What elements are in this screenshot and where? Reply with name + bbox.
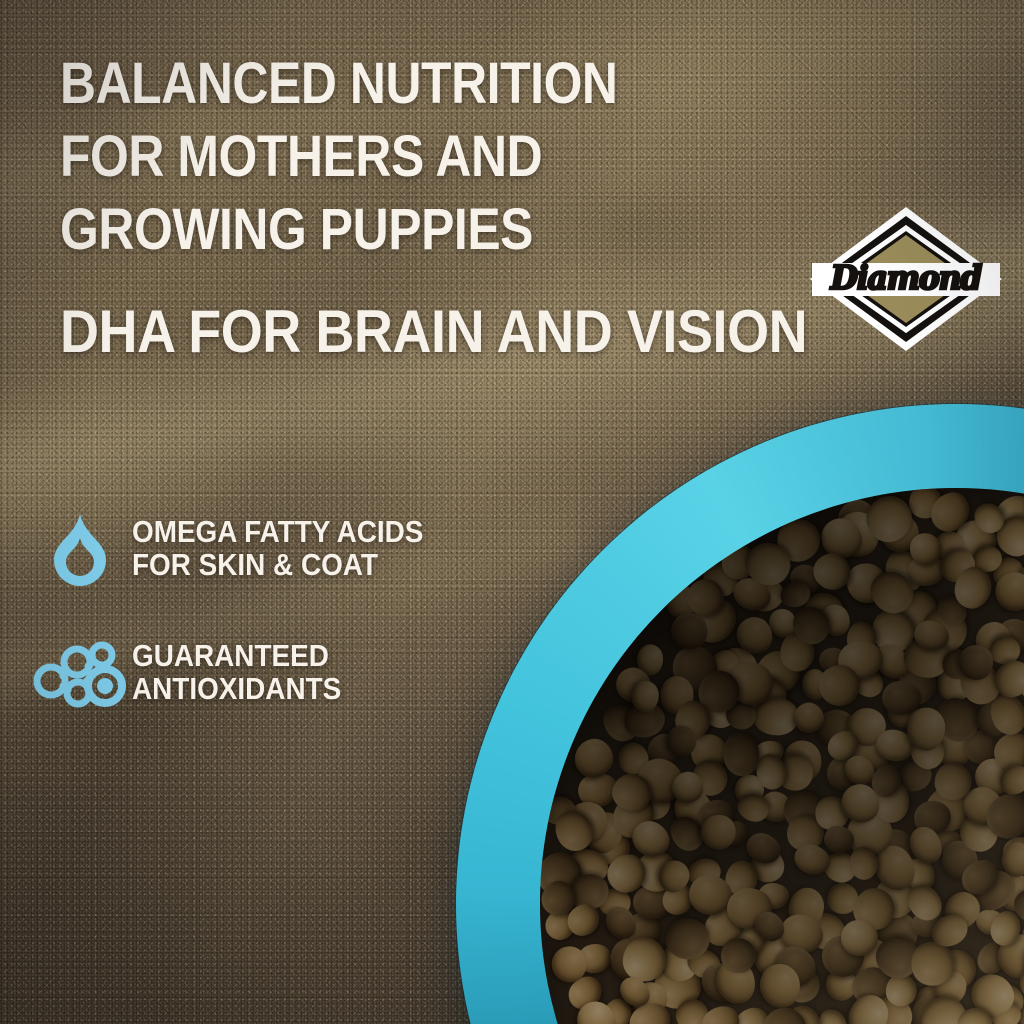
diamond-brand-logo: Diamond bbox=[806, 203, 1006, 355]
benefit-omega-line-2: FOR SKIN & COAT bbox=[132, 549, 425, 582]
headline-line-1: BALANCED NUTRITION bbox=[60, 56, 714, 113]
oil-droplet-icon bbox=[28, 512, 132, 592]
logo-wordmark-text: Diamond bbox=[830, 258, 982, 297]
headline-line-3: GROWING PUPPIES bbox=[60, 202, 714, 259]
benefit-text-antioxidants: GUARANTEED ANTIOXIDANTS bbox=[132, 636, 458, 706]
benefits-list: OMEGA FATTY ACIDS FOR SKIN & COAT bbox=[28, 512, 458, 760]
benefit-item-antioxidants: GUARANTEED ANTIOXIDANTS bbox=[28, 636, 458, 716]
benefit-omega-line-1: OMEGA FATTY ACIDS bbox=[132, 516, 425, 549]
product-banner: BALANCED NUTRITION FOR MOTHERS AND GROWI… bbox=[0, 0, 1024, 1024]
subheadline-dha: DHA FOR BRAIN AND VISION bbox=[60, 302, 744, 362]
antioxidant-molecule-icon bbox=[28, 636, 132, 716]
benefit-antioxidants-line-2: ANTIOXIDANTS bbox=[132, 673, 425, 706]
benefit-item-omega: OMEGA FATTY ACIDS FOR SKIN & COAT bbox=[28, 512, 458, 592]
benefit-text-omega: OMEGA FATTY ACIDS FOR SKIN & COAT bbox=[132, 512, 458, 582]
headline-line-2: FOR MOTHERS AND bbox=[60, 129, 714, 186]
headline-block: BALANCED NUTRITION FOR MOTHERS AND GROWI… bbox=[60, 56, 820, 362]
benefit-antioxidants-line-1: GUARANTEED bbox=[132, 640, 425, 673]
